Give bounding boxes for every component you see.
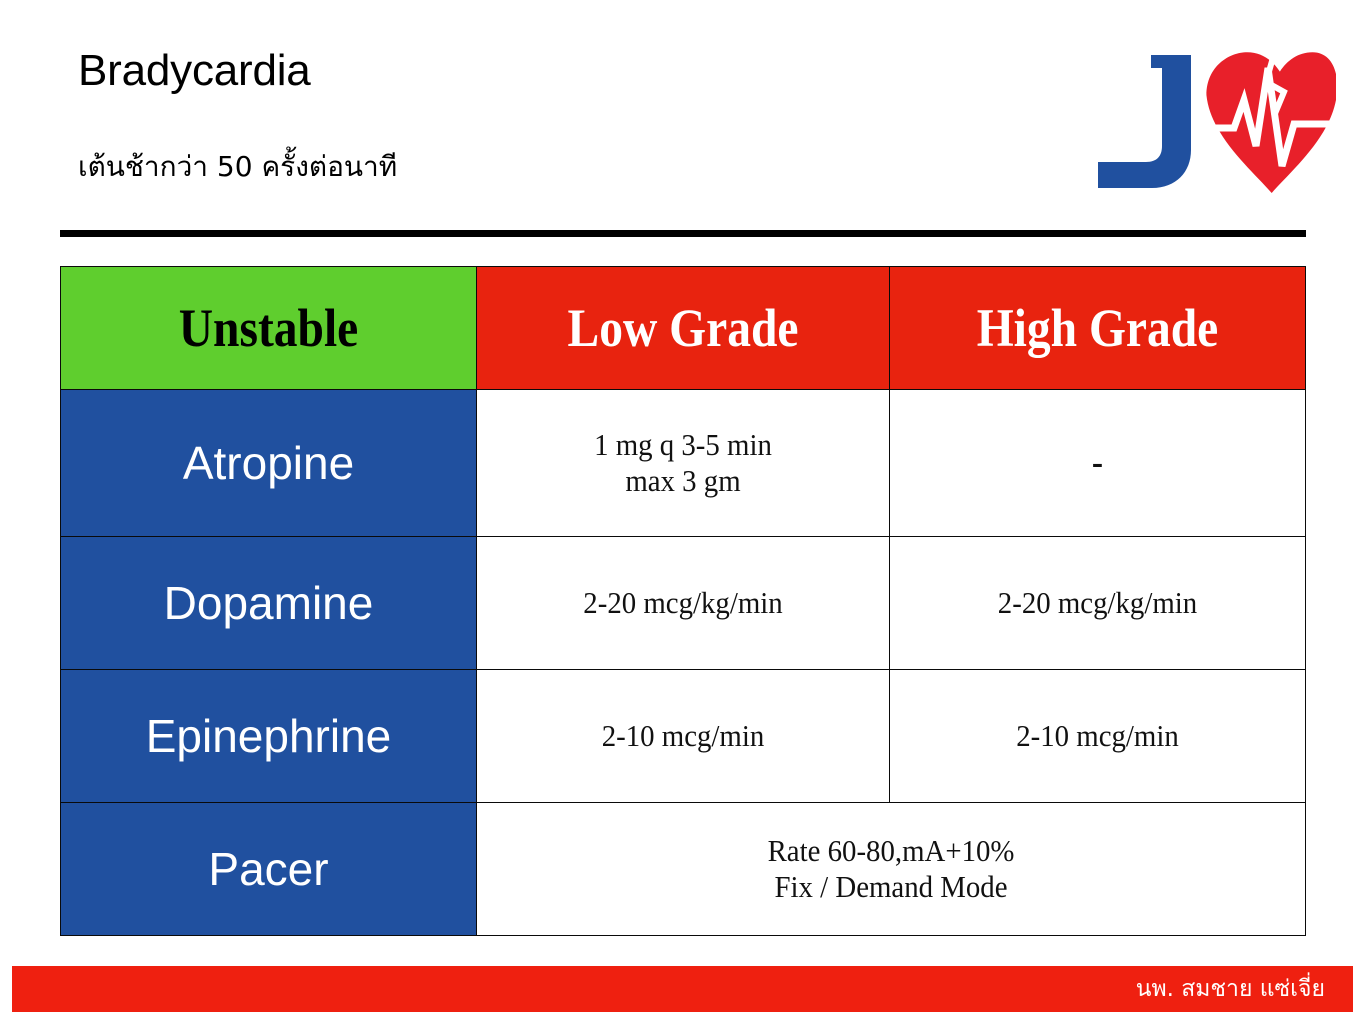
page-title: Bradycardia [78, 48, 311, 94]
high-grade-dose-cell-dopamine: 2-20 mcg/kg/min [890, 537, 1306, 670]
drug-name-label: Atropine [61, 439, 476, 487]
jd-heart-ecg-logo [1088, 38, 1336, 206]
high-grade-dose-text: 2-10 mcg/min [905, 718, 1291, 754]
high-grade-dose-cell-epinephrine: 2-10 mcg/min [890, 670, 1306, 803]
low-grade-dose-cell-atropine: 1 mg q 3-5 min max 3 gm [477, 390, 890, 537]
column-header-unstable-label: Unstable [86, 301, 451, 355]
high-grade-dose-cell-atropine: - [890, 390, 1306, 537]
drug-name-cell-epinephrine: Epinephrine [61, 670, 477, 803]
pacer-settings-text: Rate 60-80,mA+10% Fix / Demand Mode [506, 833, 1276, 905]
title-divider [60, 230, 1306, 237]
high-grade-dose-text: - [905, 442, 1291, 484]
page-subtitle: เต้นช้ากว่า 50 ครั้งต่อนาที [78, 152, 397, 183]
pacer-settings-cell: Rate 60-80,mA+10% Fix / Demand Mode [477, 803, 1306, 936]
high-grade-dose-text: 2-20 mcg/kg/min [905, 585, 1291, 621]
column-header-low-grade: Low Grade [477, 267, 890, 390]
pacer-line-1: Rate 60-80,mA+10% [768, 833, 1015, 868]
drug-name-cell-atropine: Atropine [61, 390, 477, 537]
pacer-line-2: Fix / Demand Mode [506, 869, 1276, 905]
drug-name-label: Epinephrine [61, 712, 476, 760]
column-header-high-grade: High Grade [890, 267, 1306, 390]
footer-bar: นพ. สมชาย แซ่เจี่ย [12, 966, 1353, 1012]
bradycardia-treatment-table: Unstable Low Grade High Grade Atropine 1… [60, 266, 1306, 936]
low-grade-dose-text: 2-20 mcg/kg/min [491, 585, 874, 621]
dose-line-2: max 3 gm [491, 463, 874, 499]
table-row: Pacer Rate 60-80,mA+10% Fix / Demand Mod… [61, 803, 1306, 936]
table-row: Dopamine 2-20 mcg/kg/min 2-20 mcg/kg/min [61, 537, 1306, 670]
drug-name-label: Pacer [61, 845, 476, 893]
low-grade-dose-text: 2-10 mcg/min [491, 718, 874, 754]
low-grade-dose-cell-epinephrine: 2-10 mcg/min [477, 670, 890, 803]
table-header-row: Unstable Low Grade High Grade [61, 267, 1306, 390]
drug-name-label: Dopamine [61, 579, 476, 627]
table-row: Epinephrine 2-10 mcg/min 2-10 mcg/min [61, 670, 1306, 803]
table-row: Atropine 1 mg q 3-5 min max 3 gm - [61, 390, 1306, 537]
drug-name-cell-dopamine: Dopamine [61, 537, 477, 670]
column-header-unstable: Unstable [61, 267, 477, 390]
low-grade-dose-cell-dopamine: 2-20 mcg/kg/min [477, 537, 890, 670]
footer-credit-label: นพ. สมชาย แซ่เจี่ย [1136, 971, 1325, 1007]
low-grade-dose-text: 1 mg q 3-5 min max 3 gm [491, 427, 874, 499]
drug-name-cell-pacer: Pacer [61, 803, 477, 936]
dose-line-1: 1 mg q 3-5 min [594, 427, 772, 462]
column-header-low-grade-label: Low Grade [502, 301, 865, 355]
column-header-high-grade-label: High Grade [915, 301, 1280, 355]
